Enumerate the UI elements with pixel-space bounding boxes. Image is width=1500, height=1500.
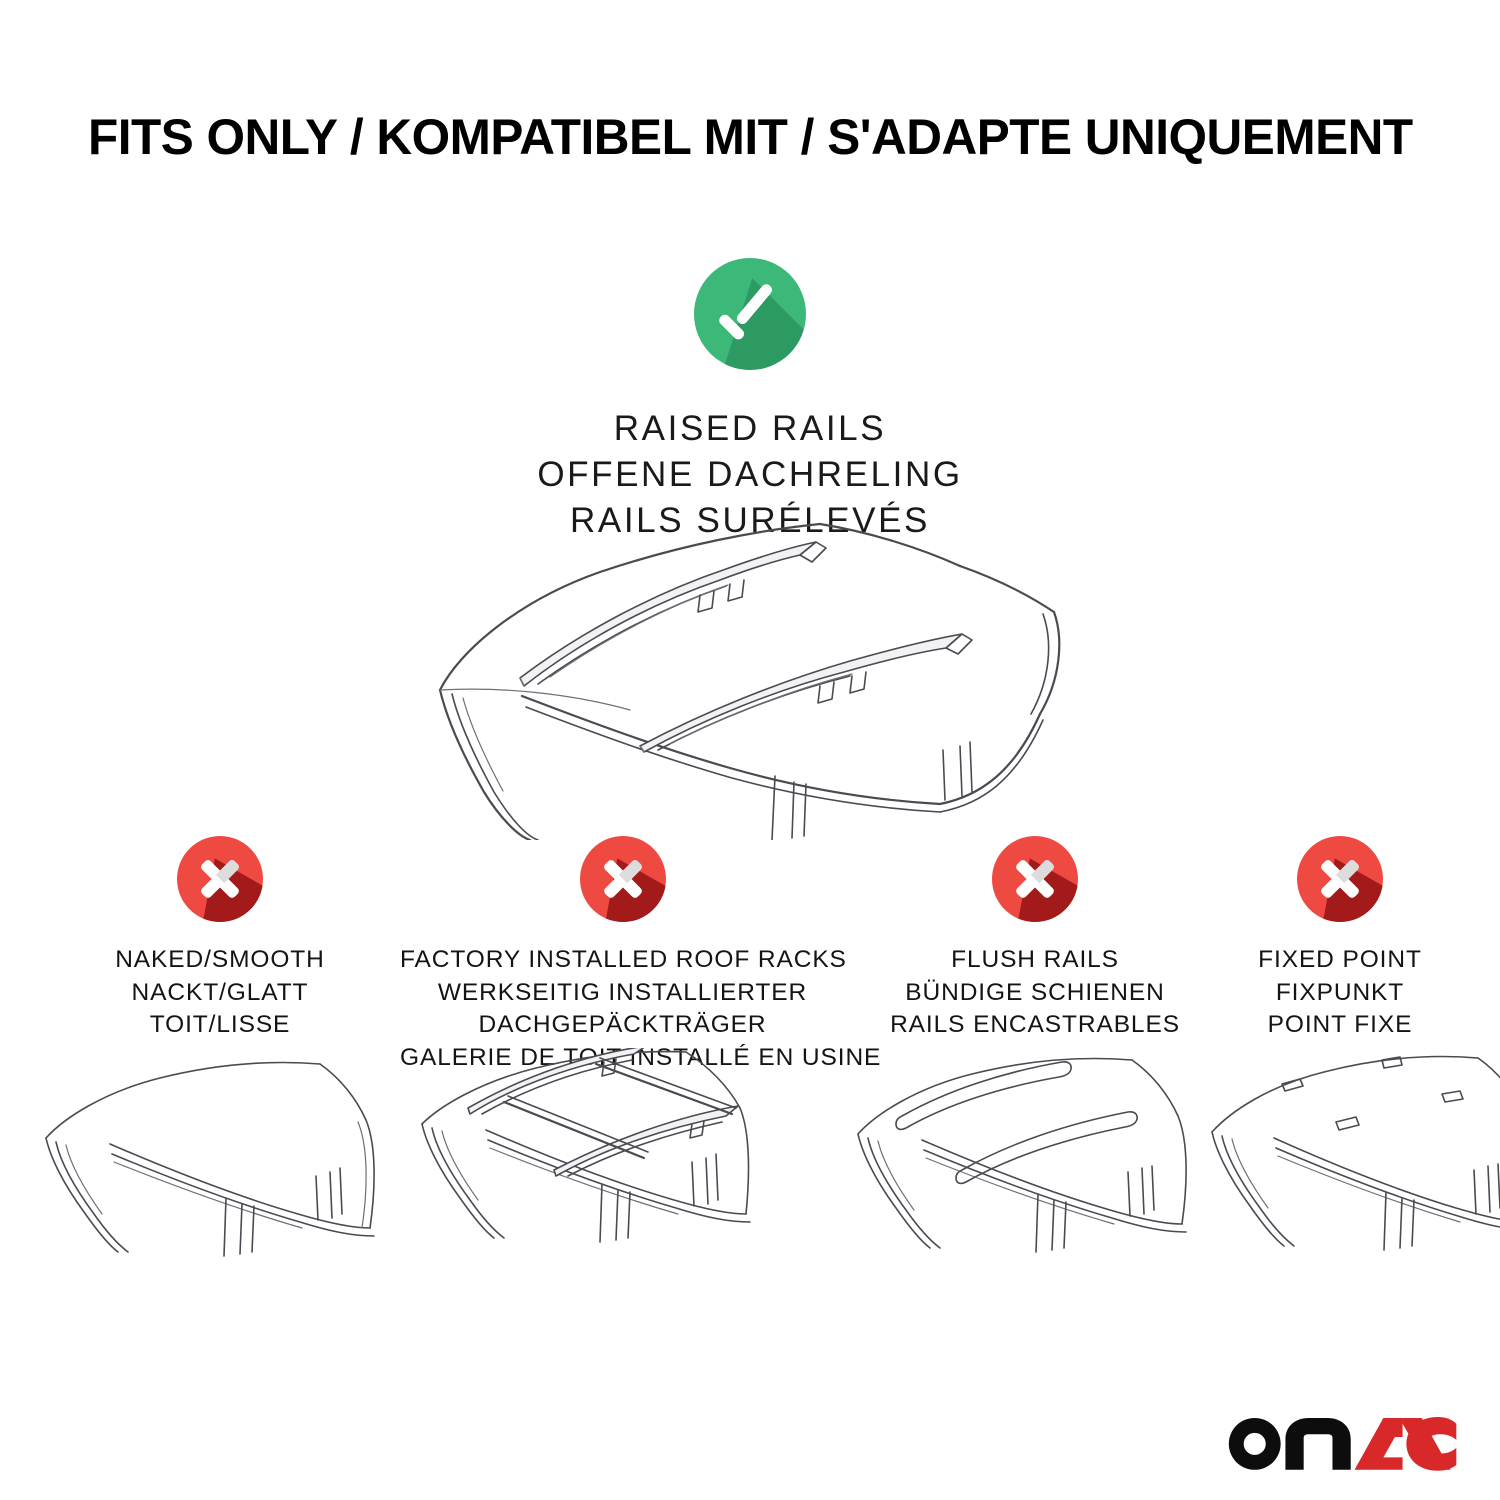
- car-roof-factory-racks-drawing: [400, 1048, 845, 1278]
- reject-labels: FLUSH RAILS BÜNDIGE SCHIENEN RAILS ENCAS…: [850, 944, 1220, 1042]
- x-glyph: [598, 854, 648, 904]
- red-x-circle-icon: [992, 836, 1078, 922]
- reject-label-de: NACKT/GLATT: [40, 977, 400, 1010]
- reject-label-de: BÜNDIGE SCHIENEN: [850, 977, 1220, 1010]
- check-glyph: [719, 291, 781, 323]
- car-roof-naked-smooth-drawing: [40, 1048, 400, 1278]
- approved-label-de: OFFENE DACHRELING: [0, 452, 1500, 498]
- x-glyph: [195, 854, 245, 904]
- reject-item-flush-rails: FLUSH RAILS BÜNDIGE SCHIENEN RAILS ENCAS…: [850, 836, 1220, 1042]
- reject-label-en: NAKED/SMOOTH: [40, 944, 400, 977]
- approved-label-en: RAISED RAILS: [0, 406, 1500, 452]
- red-x-circle-icon: [1297, 836, 1383, 922]
- reject-label-fr: RAILS ENCASTRABLES: [850, 1009, 1220, 1042]
- reject-labels: NAKED/SMOOTH NACKT/GLATT TOIT/LISSE: [40, 944, 400, 1042]
- reject-label-en: FACTORY INSTALLED ROOF RACKS: [400, 944, 845, 977]
- car-roof-flush-rails-drawing: [850, 1048, 1220, 1278]
- reject-label-de-2: DACHGEPÄCKTRÄGER: [400, 1009, 845, 1042]
- reject-item-factory-installed-roof-racks: FACTORY INSTALLED ROOF RACKS WERKSEITIG …: [400, 836, 845, 1074]
- reject-label-fr: TOIT/LISSE: [40, 1009, 400, 1042]
- green-check-circle-icon: [694, 258, 806, 370]
- car-roof-fixed-point-drawing: [1210, 1048, 1470, 1278]
- car-roof-raised-rails-drawing: [400, 500, 1120, 840]
- reject-label-de-1: WERKSEITIG INSTALLIERTER: [400, 977, 845, 1010]
- red-x-circle-icon: [580, 836, 666, 922]
- reject-labels: FIXED POINT FIXPUNKT POINT FIXE: [1210, 944, 1470, 1042]
- page-title: FITS ONLY / KOMPATIBEL MIT / S'ADAPTE UN…: [88, 108, 1415, 166]
- reject-label-en: FLUSH RAILS: [850, 944, 1220, 977]
- reject-item-fixed-point: FIXED POINT FIXPUNKT POINT FIXE: [1210, 836, 1470, 1042]
- reject-label-de: FIXPUNKT: [1210, 977, 1470, 1010]
- x-glyph: [1010, 854, 1060, 904]
- red-x-circle-icon: [177, 836, 263, 922]
- logo-letter-a: [1355, 1418, 1403, 1470]
- reject-item-naked-smooth: NAKED/SMOOTH NACKT/GLATT TOIT/LISSE: [40, 836, 400, 1042]
- reject-label-fr: POINT FIXE: [1210, 1009, 1470, 1042]
- omac-logo: [1224, 1400, 1464, 1472]
- reject-label-en: FIXED POINT: [1210, 944, 1470, 977]
- x-glyph: [1315, 854, 1365, 904]
- incompatible-fitment-grid: NAKED/SMOOTH NACKT/GLATT TOIT/LISSE: [0, 836, 1500, 1356]
- logo-letter-m: [1285, 1418, 1350, 1470]
